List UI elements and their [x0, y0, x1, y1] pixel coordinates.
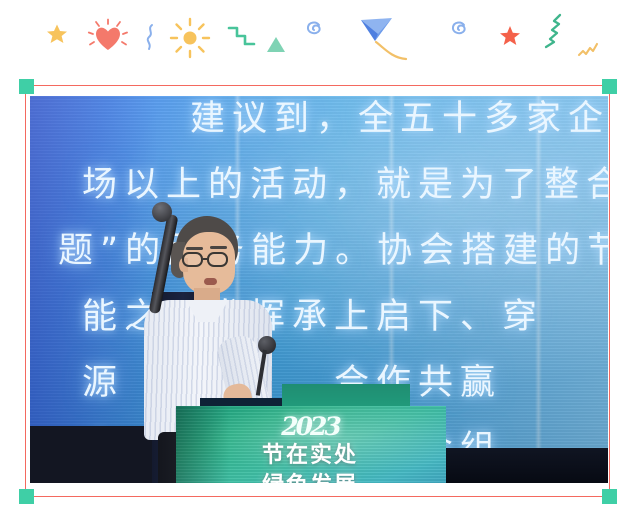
podium-shadow	[176, 406, 230, 483]
speaker-mouth	[204, 278, 217, 285]
glasses-icon	[182, 252, 238, 267]
corner-square-bottom-left	[19, 489, 34, 504]
sun-doodle	[170, 18, 210, 58]
spiral-doodle	[302, 18, 326, 42]
led-text-line-2: 场以上的活动，就是为了整合	[82, 168, 608, 203]
podium-microphone-head-icon	[258, 336, 276, 354]
corner-square-bottom-right	[602, 489, 617, 504]
triangle-doodle	[266, 36, 286, 53]
speaker-eyebrow-right	[210, 246, 227, 249]
speaker-eyebrow-left	[186, 247, 203, 250]
zigzag-doodle	[228, 26, 256, 48]
paper-plane-doodle	[358, 14, 418, 66]
corner-square-top-left	[19, 79, 34, 94]
spiral-doodle-2	[447, 18, 471, 42]
zigzag-doodle-2	[542, 14, 564, 48]
doodle-decoration-strip	[0, 0, 635, 78]
corner-square-top-right	[602, 79, 617, 94]
squiggle-doodle	[145, 24, 157, 50]
star-doodle	[45, 22, 69, 46]
star-doodle-2	[498, 24, 522, 48]
zigzag-doodle-3	[578, 42, 600, 58]
conference-speaker-photo: 建议到，全五十多家企 场以上的活动，就是为了整合 题”的服务能力。协会搭建的节 …	[30, 96, 608, 483]
heart-doodle	[88, 18, 128, 54]
led-text-line-1: 建议到，全五十多家企	[190, 102, 608, 137]
